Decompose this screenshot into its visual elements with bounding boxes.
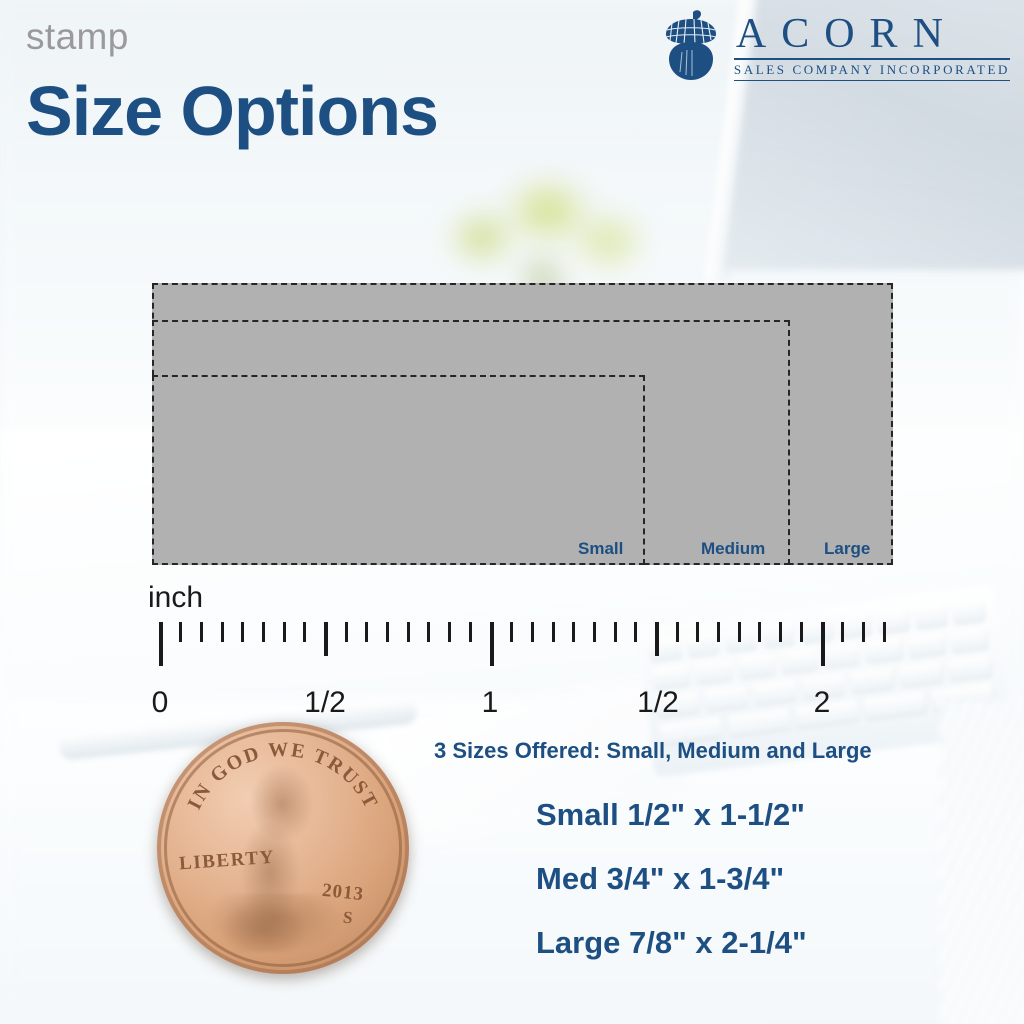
ruler-tick — [427, 622, 430, 642]
ruler-label-half2: 1/2 — [637, 686, 679, 720]
ruler-label-half1: 1/2 — [304, 686, 346, 720]
ruler-tick — [241, 622, 244, 642]
ruler-tick — [324, 622, 328, 656]
ruler-tick — [738, 622, 741, 642]
size-box-label-large: Large — [824, 539, 870, 594]
ruler-tick — [510, 622, 513, 642]
ruler-tick — [655, 622, 659, 656]
ruler-tick — [883, 622, 886, 642]
ruler-tick — [490, 622, 494, 666]
ruler-tick — [407, 622, 410, 642]
ruler-tick — [779, 622, 782, 642]
ruler-tick — [572, 622, 575, 642]
size-spec-large: Large 7/8" x 2-1/4" — [536, 925, 807, 961]
ruler-tick — [159, 622, 163, 666]
ruler-tick — [634, 622, 637, 642]
ruler-tick — [386, 622, 389, 642]
ruler-tick — [758, 622, 761, 642]
ruler-tick — [179, 622, 182, 642]
ruler-label-0: 0 — [152, 686, 169, 720]
ruler-label-1: 1 — [482, 686, 499, 720]
ruler-tick — [614, 622, 617, 642]
ruler-tick — [552, 622, 555, 642]
ruler-tick — [676, 622, 679, 642]
size-box-label-small: Small — [578, 539, 623, 594]
ruler-tick — [841, 622, 844, 642]
ruler-tick — [448, 622, 451, 642]
ruler-tick — [365, 622, 368, 642]
ruler-tick — [303, 622, 306, 642]
ruler-tick — [200, 622, 203, 642]
size-box-label-medium: Medium — [701, 539, 765, 594]
size-spec-medium: Med 3/4" x 1-3/4" — [536, 861, 784, 897]
ruler-tick — [262, 622, 265, 642]
ruler-unit-label: inch — [148, 581, 203, 615]
ruler-tick — [283, 622, 286, 642]
ruler-tick — [717, 622, 720, 642]
ruler-tick — [531, 622, 534, 642]
size-spec-small: Small 1/2" x 1-1/2" — [536, 797, 805, 833]
ruler-tick — [821, 622, 825, 666]
penny-coin: IN GOD WE TRUST LIBERTY 2013 S — [157, 722, 409, 974]
ruler-label-2: 2 — [814, 686, 831, 720]
ruler-tick — [469, 622, 472, 642]
ruler-tick — [862, 622, 865, 642]
ruler-tick — [800, 622, 803, 642]
size-box-small[interactable] — [152, 375, 645, 565]
penny-year-text: 2013 — [321, 880, 365, 906]
ruler-tick — [221, 622, 224, 642]
ruler-tick — [593, 622, 596, 642]
ruler-tick — [345, 622, 348, 642]
stamp-size-options-graphic: stamp Size Options ACORN SALES COMPANY I… — [0, 0, 1024, 1024]
ruler-tick — [696, 622, 699, 642]
sizes-offered-heading: 3 Sizes Offered: Small, Medium and Large — [434, 738, 872, 764]
penny-motto-text: IN GOD WE TRUST — [184, 739, 383, 813]
penny-motto-arc: IN GOD WE TRUST — [157, 722, 409, 974]
